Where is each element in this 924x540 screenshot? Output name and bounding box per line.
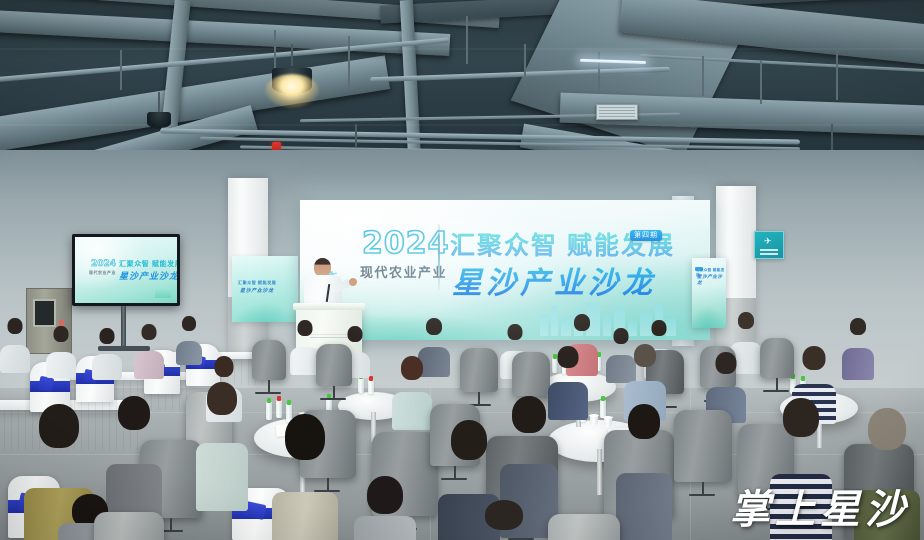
audience-member — [92, 328, 122, 370]
conference-chair[interactable] — [512, 352, 550, 396]
event-photo-scene: 汇聚众智 赋能发展 星沙产业沙龙 ✈ 2024 现代农业产业 汇聚众智 赋能发展… — [0, 0, 924, 540]
audience-member — [106, 396, 162, 506]
audience-member — [500, 396, 558, 506]
audience-member — [706, 352, 746, 408]
conference-chair[interactable] — [94, 512, 164, 540]
audience-member — [196, 382, 248, 480]
paper-cup[interactable] — [590, 416, 598, 425]
conference-chair[interactable] — [316, 344, 352, 386]
audience-member — [176, 316, 202, 356]
audience-member — [616, 404, 672, 516]
audience-member — [842, 318, 874, 366]
channel-watermark: 掌上星沙 — [730, 490, 910, 530]
conference-chair[interactable] — [548, 514, 620, 540]
conference-chair[interactable] — [674, 410, 732, 482]
audience-member — [392, 356, 432, 414]
audience-member — [470, 500, 538, 540]
water-bottle[interactable] — [358, 378, 364, 393]
conference-chair[interactable] — [252, 340, 286, 380]
audience-member — [134, 324, 164, 368]
audience-member — [0, 318, 30, 362]
audience-member — [624, 344, 666, 404]
conference-chair[interactable] — [760, 338, 794, 378]
audience-member — [46, 326, 76, 368]
paper-cup[interactable] — [604, 418, 612, 427]
audience-member — [354, 476, 416, 540]
conference-chair[interactable] — [460, 348, 498, 392]
water-bottle[interactable] — [368, 380, 374, 394]
audience-area — [0, 0, 924, 540]
audience-member — [272, 414, 338, 540]
